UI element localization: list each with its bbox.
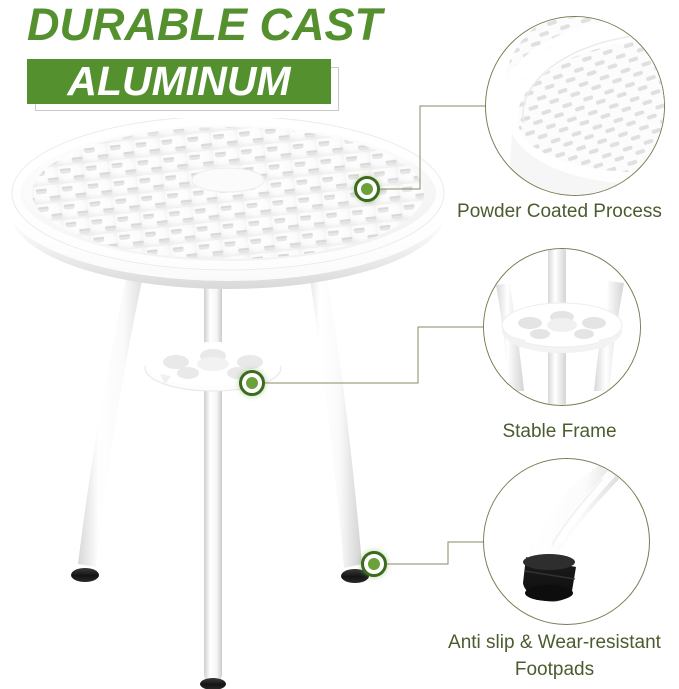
infographic-canvas: DURABLE CAST ALUMINUM [0,0,679,689]
detail-image-table-edge [486,17,664,195]
caption-powder-coated: Powder Coated Process [440,198,679,225]
footpad-left [71,568,99,582]
marker-footpads[interactable] [361,551,387,577]
marker-powder-coated[interactable] [354,176,380,202]
caption-footpads-line1: Anti slip & Wear-resistant [430,629,679,656]
detail-circle-stable-frame[interactable] [483,248,641,406]
product-photo [0,118,460,689]
caption-footpads-line2: Footpads [430,656,679,683]
table-illustration [0,118,460,689]
headline-secondary: ALUMINUM [27,59,331,104]
headline-banner: ALUMINUM [27,59,331,104]
caption-stable-frame: Stable Frame [440,418,679,445]
headline-primary: DURABLE CAST [27,0,427,54]
marker-stable-frame[interactable] [239,370,265,396]
footpad-center [200,678,226,689]
detail-image-stabilizer-plate [484,249,640,405]
detail-circle-footpads[interactable] [483,458,650,625]
detail-circle-powder-coated[interactable] [485,16,665,196]
detail-image-footpad [484,459,649,624]
